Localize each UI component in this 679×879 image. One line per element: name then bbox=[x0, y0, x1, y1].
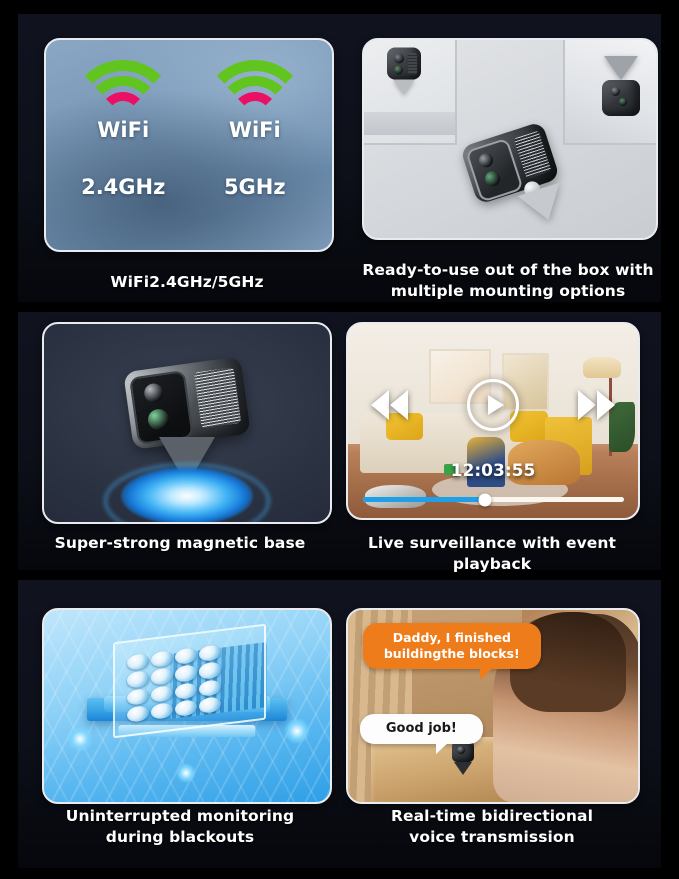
energy-spark bbox=[176, 763, 196, 783]
battery-cell bbox=[127, 671, 149, 689]
battery-caption-line2: during blackouts bbox=[30, 827, 330, 848]
battery-cell bbox=[199, 679, 221, 697]
battery-cell bbox=[127, 705, 149, 723]
voice-caption-line1: Real-time bidirectional bbox=[332, 806, 652, 827]
bubble-child-line1: Daddy, I finished bbox=[374, 630, 531, 646]
camera-on-desk bbox=[452, 741, 474, 775]
battery-caption-line1: Uninterrupted monitoring bbox=[30, 806, 330, 827]
voice-caption: Real-time bidirectional voice transmissi… bbox=[332, 806, 652, 848]
bubble-child-line2: buildingthe blocks! bbox=[374, 646, 531, 662]
battery-caption: Uninterrupted monitoring during blackout… bbox=[30, 806, 330, 848]
battery-cell bbox=[199, 662, 221, 680]
energy-spark bbox=[284, 718, 310, 744]
energy-spark bbox=[67, 726, 93, 752]
battery-cell bbox=[175, 665, 197, 683]
battery-cell bbox=[175, 647, 197, 665]
row-3-content: Uninterrupted monitoring during blackout… bbox=[0, 0, 679, 879]
two-way-voice-card: Daddy, I finished buildingthe blocks! Go… bbox=[346, 608, 640, 804]
battery-cell bbox=[151, 702, 173, 720]
battery-cell bbox=[151, 668, 173, 686]
battery-cell bbox=[175, 699, 197, 717]
battery-cell bbox=[151, 650, 173, 668]
battery-cell bbox=[175, 682, 197, 700]
battery-cell-grid bbox=[127, 645, 221, 724]
battery-cell bbox=[151, 685, 173, 703]
battery-cell bbox=[199, 696, 221, 714]
battery-backup-card bbox=[42, 608, 332, 804]
feature-grid-page: WiFi 2.4GHz WiFi 5GHz WiFi2.4GHz/5GHz bbox=[0, 0, 679, 879]
battery-cell bbox=[127, 653, 149, 671]
speech-bubble-child: Daddy, I finished buildingthe blocks! bbox=[363, 623, 542, 669]
battery-cell bbox=[127, 688, 149, 706]
voice-caption-line2: voice transmission bbox=[332, 827, 652, 848]
speech-bubble-parent: Good job! bbox=[360, 714, 484, 745]
battery-cell bbox=[199, 645, 221, 663]
